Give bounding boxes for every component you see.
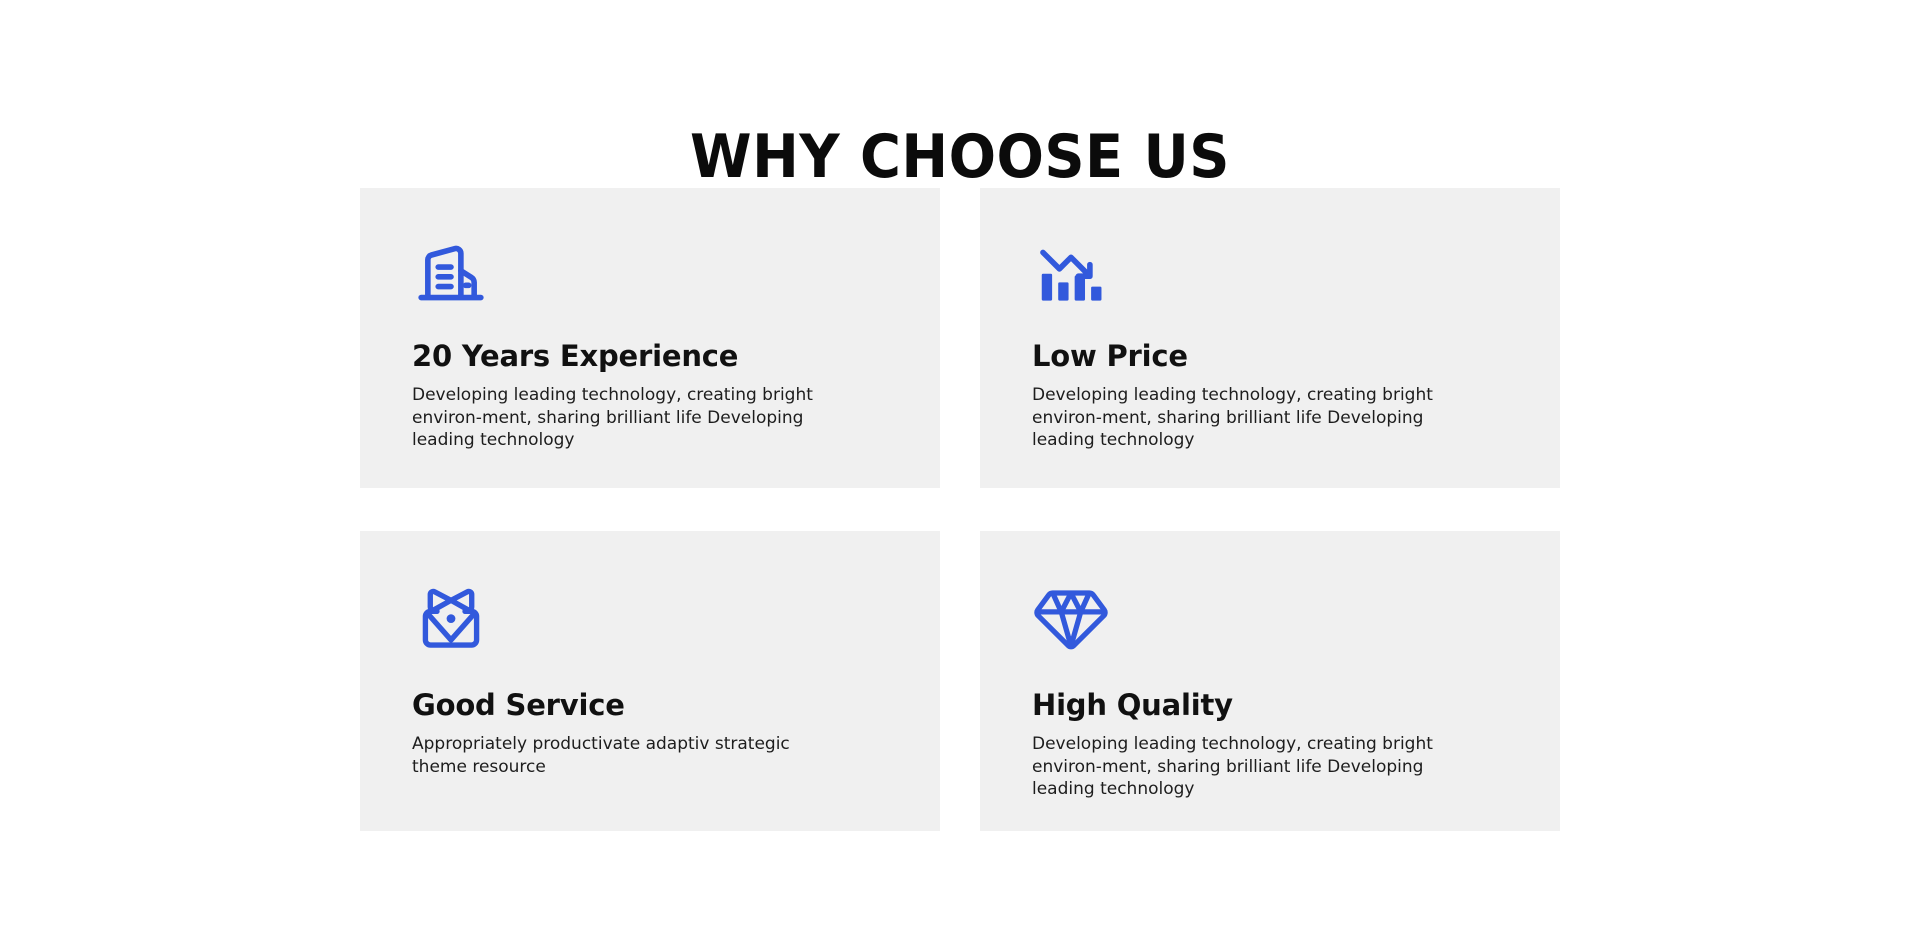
- office-building-icon: [412, 236, 490, 314]
- feature-cards-grid: 20 Years Experience Developing leading t…: [360, 188, 1560, 831]
- diamond-gem-icon: [1032, 579, 1110, 657]
- card-title: Low Price: [1032, 338, 1508, 374]
- card-title: Good Service: [412, 687, 888, 723]
- card-title: High Quality: [1032, 687, 1508, 723]
- declining-bar-chart-icon: [1032, 236, 1110, 314]
- feature-card-low-price[interactable]: Low Price Developing leading technology,…: [980, 188, 1560, 488]
- card-description: Developing leading technology, creating …: [412, 384, 827, 452]
- page-title: WHY CHOOSE US: [67, 124, 1853, 190]
- why-choose-us-section: WHY CHOOSE US 20 Years Experience Develo…: [0, 0, 1920, 930]
- feature-card-experience[interactable]: 20 Years Experience Developing leading t…: [360, 188, 940, 488]
- card-description: Appropriately productivate adaptiv strat…: [412, 733, 827, 778]
- card-description: Developing leading technology, creating …: [1032, 733, 1447, 801]
- feature-card-high-quality[interactable]: High Quality Developing leading technolo…: [980, 531, 1560, 831]
- feature-card-good-service[interactable]: Good Service Appropriately productivate …: [360, 531, 940, 831]
- card-description: Developing leading technology, creating …: [1032, 384, 1447, 452]
- card-title: 20 Years Experience: [412, 338, 888, 374]
- tuxedo-bowtie-icon: [412, 579, 490, 657]
